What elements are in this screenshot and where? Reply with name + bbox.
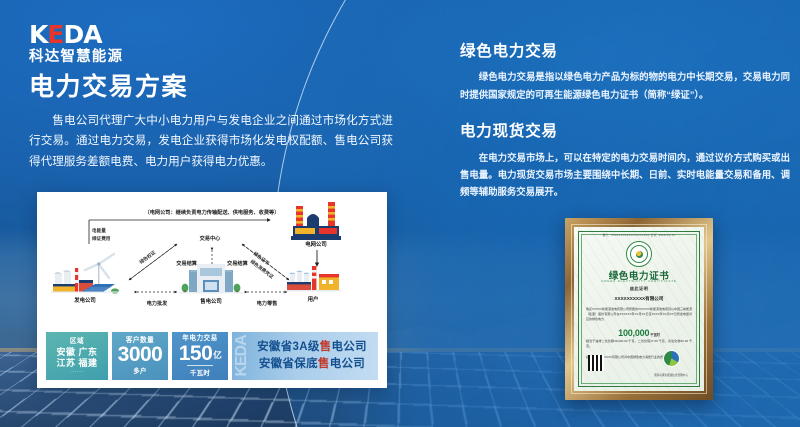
diagram-settle-left: 交易结算: [176, 259, 198, 267]
certificate-amount-unit: 千瓦时: [650, 333, 660, 337]
qualification-line-2-c: 电公司: [330, 358, 365, 370]
diagram-node-user-label: 用户: [308, 295, 319, 303]
certificate-amount-group: 100,000千瓦时: [574, 328, 704, 338]
diagram-node-retailer-label: 售电公司: [200, 297, 222, 305]
qualification-line-2-a: 安徽省保底: [259, 358, 318, 370]
certificate-org-name: 国家可再生能源信息管理中心: [646, 373, 696, 377]
certificate-company: XXXXXXXXXX有限公司: [574, 296, 704, 302]
stat-volume-value-group: 150亿: [179, 344, 222, 364]
diagram-node-grid-icon: [291, 202, 341, 240]
section-body-spot-trading: 在电力交易市场上，可以在特定的电力交易时间内，通过议价方式购买或出售电量。电力现…: [460, 149, 790, 201]
diagram-retail-label: 电力零售: [257, 299, 278, 307]
diagram-top-note: （电网公司：继续负责电力传输配送、供电服务、收费等）: [145, 208, 280, 216]
page-title: 电力交易方案: [29, 72, 393, 102]
qualification-line-2-b: 售: [318, 358, 330, 370]
stat-region-caption: 区域: [70, 338, 84, 345]
certificate-paper: 编号：XXXXXXXXXXXXXXXXXXXX 证书：2023-XX-XX 绿色…: [574, 227, 704, 391]
diagram-wholesale-label: 电力批发: [147, 299, 169, 307]
diagram-card: （电网公司：继续负责电力传输配送、供电服务、收费等） 电能量 绿证费用 交易中心…: [37, 192, 387, 388]
certificate-seal-core: [636, 251, 643, 258]
section-title-green-power: 绿色电力交易: [460, 42, 790, 61]
stat-region-row-1: 安徽 广东: [56, 347, 97, 357]
certificate-seal-icon: [626, 241, 652, 267]
diagram-svg: （电网公司：继续负责电力传输配送、供电服务、收费等） 电能量 绿证费用 交易中心…: [37, 192, 387, 330]
qualification-line-2: 安徽省保底售电公司: [257, 356, 367, 373]
qualification-badge-lines: 安徽省3A级售电公司 安徽省保底售电公司: [243, 339, 367, 374]
certificate-paragraph-2: 相当于减排二氧化碳49,000.00 千克，二氧化硫47.00 千克，氮氧化物4…: [586, 339, 692, 349]
stat-customers-value: 3000: [118, 345, 163, 365]
certificate-amount: 100,000: [618, 328, 649, 338]
power-trading-diagram: （电网公司：继续负责电力传输配送、供电服务、收费等） 电能量 绿证费用 交易中心…: [37, 192, 387, 330]
diagram-node-retailer-icon: [179, 264, 243, 293]
diagram-left-note-2: 绿证费用: [92, 235, 111, 242]
qualification-line-1-c: 电公司: [331, 341, 366, 353]
stat-volume: 年电力交易 150亿 千瓦时: [172, 332, 228, 380]
stat-region: 区域 安徽 广东 江苏 福建 ......: [46, 332, 108, 380]
stat-customers-unit: 多户: [133, 366, 146, 375]
diagram-left-note-1: 电能量: [92, 227, 106, 234]
certificate-seal-inner-ring: [630, 245, 648, 263]
diagram-node-generator-icon: [51, 254, 119, 294]
stat-region-ellipsis: ......: [70, 369, 84, 374]
qualification-line-1-a: 安徽省3A级: [257, 341, 320, 353]
stats-strip: 区域 安徽 广东 江苏 福建 ...... 客户数量 3000 多户 年电力交易…: [46, 332, 378, 380]
brand-logo-mark: KEDA: [29, 22, 161, 47]
section-spacer: [460, 103, 790, 122]
section-title-spot-trading: 电力现货交易: [460, 122, 790, 141]
brand-logo: KEDA 科达智慧能源: [29, 22, 161, 65]
diagram-center-label: 交易中心: [200, 234, 222, 242]
diagram-node-user-icon: [285, 266, 341, 291]
certificate-serial: 编号：XXXXXXXXXXXXXXXXXXXX 证书：2023-XX-XX: [574, 233, 704, 237]
certificate-qr-code-icon: [588, 355, 604, 371]
stat-volume-value: 150: [179, 342, 213, 365]
qualification-line-1: 安徽省3A级售电公司: [257, 339, 367, 356]
brand-mark-k: K: [29, 20, 47, 49]
brand-mark-da: DA: [63, 20, 101, 49]
qualification-line-1-b: 售: [320, 341, 332, 353]
green-certificate: 编号：XXXXXXXXXXXXXXXXXXXX 证书：2023-XX-XX 绿色…: [565, 218, 713, 400]
certificate-frame: 编号：XXXXXXXXXXXXXXXXXXXX 证书：2023-XX-XX 绿色…: [565, 218, 713, 400]
certificate-org-seal-icon: [663, 350, 680, 367]
stat-volume-rule: [187, 365, 213, 366]
stat-customers: 客户数量 3000 多户: [112, 332, 168, 380]
brand-logo-subtitle: 科达智慧能源: [29, 50, 161, 65]
left-text-column: 电力交易方案 售电公司代理广大中小电力用户与发电企业之间通过市场化方式进行交易。…: [29, 72, 393, 172]
brand-mark-e: E: [47, 20, 63, 49]
qualification-badges: KEDA 安徽省3A级售电公司 安徽省保底售电公司: [232, 332, 378, 380]
certificate-subtitle: 兹此证明: [574, 286, 704, 292]
section-body-green-power: 绿色电力交易是指以绿色电力产品为标的物的电力中长期交易，交易电力同时提供国家规定…: [460, 68, 790, 103]
diagram-node-grid-label: 电网公司: [305, 240, 327, 248]
certificate-paragraph-1: 购买XXXXX新能源发电有限公司所属的XXXXXX新能源发电项目以中国三峡能源（…: [586, 307, 692, 322]
diagram-node-generator-label: 发电公司: [73, 296, 96, 304]
stat-volume-unit: 千瓦时: [190, 368, 210, 377]
certificate-title-en: GREEN ELECTRICITY CERTIFICATE: [574, 279, 704, 283]
stat-region-row-2: 江苏 福建: [56, 358, 97, 368]
diagram-settle-right: 交易结算: [227, 259, 249, 267]
page-intro-paragraph: 售电公司代理广大中小电力用户与发电企业之间通过市场化方式进行交易。通过电力交易，…: [29, 111, 393, 172]
right-text-column: 绿色电力交易 绿色电力交易是指以绿色电力产品为标的物的电力中长期交易，交易电力同…: [460, 42, 790, 201]
poster-canvas: KEDA 科达智慧能源 电力交易方案 售电公司代理广大中小电力用户与发电企业之间…: [0, 0, 800, 427]
stat-region-values: 安徽 广东 江苏 福建: [56, 347, 97, 368]
stat-volume-suffix: 亿: [213, 350, 221, 360]
diagram-green-cert-left: 绿色权证: [138, 249, 157, 266]
